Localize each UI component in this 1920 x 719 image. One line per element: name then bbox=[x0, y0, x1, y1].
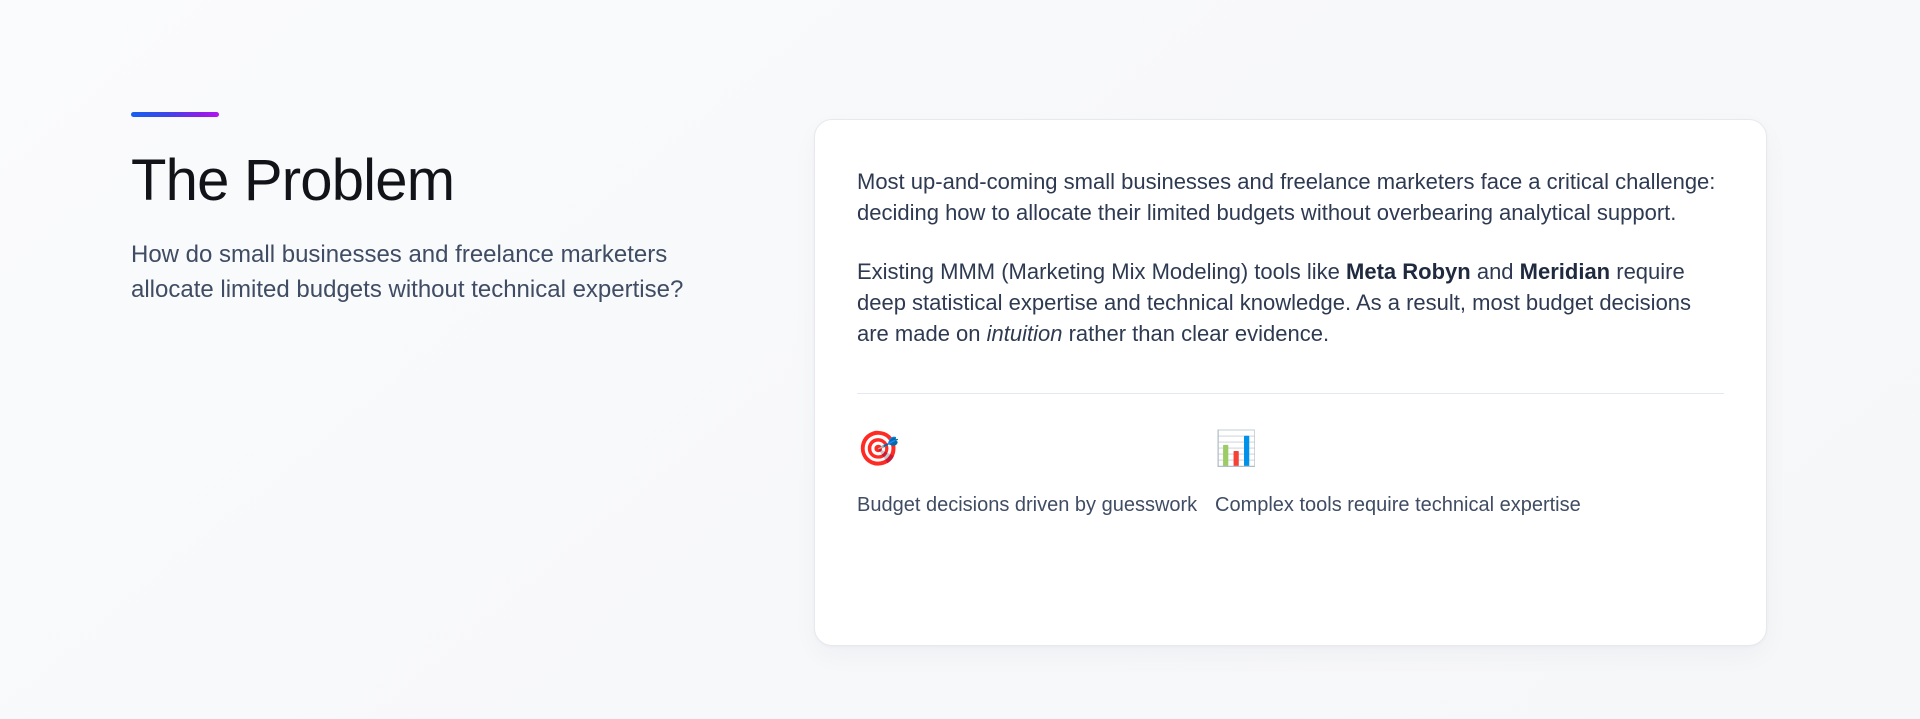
card-divider bbox=[857, 393, 1724, 394]
tool-name-meta-robyn: Meta Robyn bbox=[1346, 259, 1471, 284]
pain-point-label-complexity: Complex tools require technical expertis… bbox=[1215, 492, 1573, 518]
paragraph-2-text-part-1: Existing MMM (Marketing Mix Modeling) to… bbox=[857, 259, 1346, 284]
accent-bar bbox=[131, 112, 219, 117]
page-title: The Problem bbox=[131, 151, 731, 212]
pain-point-tile-guesswork: 🎯 Budget decisions driven by guesswork bbox=[857, 432, 1215, 518]
bar-chart-icon: 📊 bbox=[1215, 432, 1573, 472]
page-subtitle: How do small businesses and freelance ma… bbox=[131, 238, 731, 308]
slide-the-problem: The Problem How do small businesses and … bbox=[0, 0, 1920, 719]
paragraph-2-text-part-4: rather than clear evidence. bbox=[1062, 321, 1329, 346]
card-body: Most up-and-coming small businesses and … bbox=[857, 166, 1724, 518]
tool-name-meridian: Meridian bbox=[1520, 259, 1610, 284]
pain-point-label-guesswork: Budget decisions driven by guesswork bbox=[857, 492, 1215, 518]
pain-point-tiles: 🎯 Budget decisions driven by guesswork 📊… bbox=[857, 432, 1724, 518]
target-dart-icon: 🎯 bbox=[857, 432, 1215, 472]
card-paragraph-2: Existing MMM (Marketing Mix Modeling) to… bbox=[857, 256, 1724, 349]
paragraph-2-text-part-2: and bbox=[1471, 259, 1520, 284]
pain-point-tile-complexity: 📊 Complex tools require technical expert… bbox=[1215, 432, 1573, 518]
left-column: The Problem How do small businesses and … bbox=[131, 112, 731, 307]
emphasis-intuition: intuition bbox=[987, 321, 1063, 346]
card-paragraph-1: Most up-and-coming small businesses and … bbox=[857, 166, 1724, 228]
problem-detail-card: Most up-and-coming small businesses and … bbox=[814, 119, 1767, 646]
